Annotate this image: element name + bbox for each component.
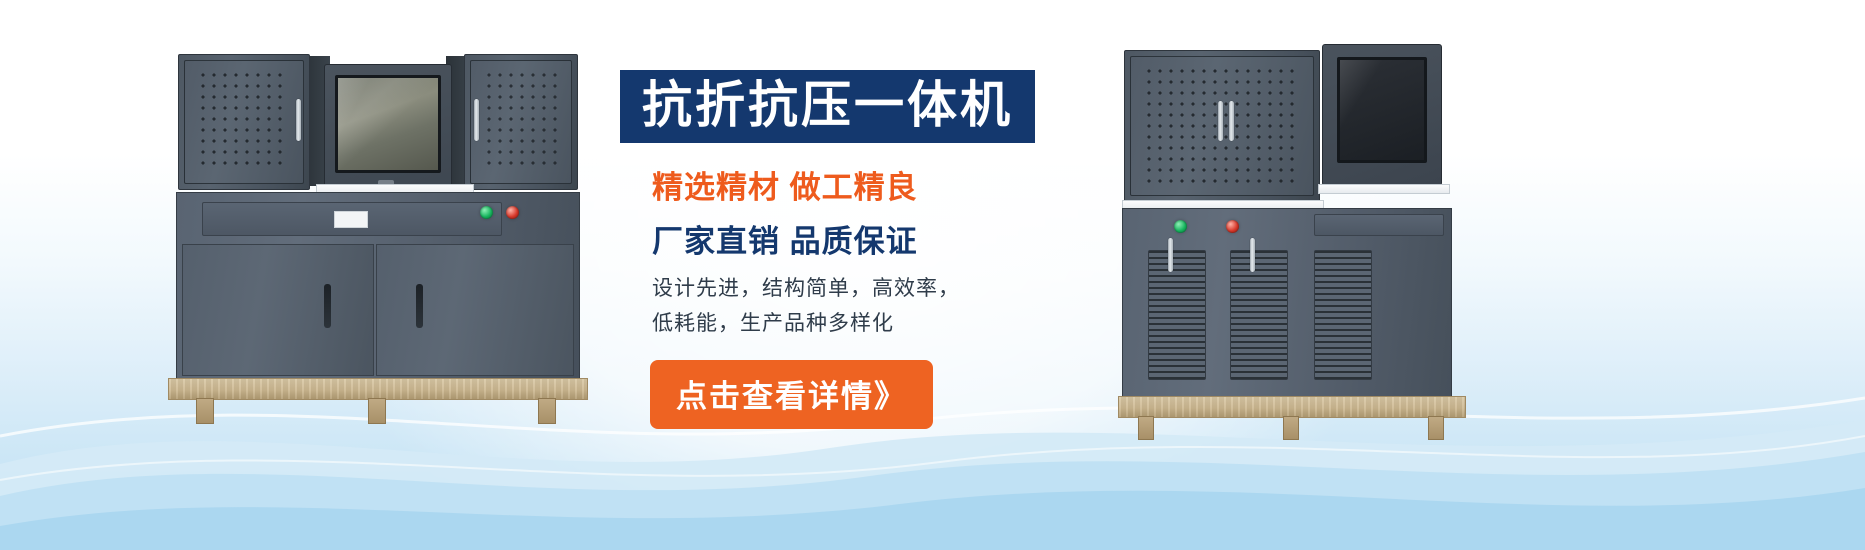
perforated-cabinet-door-left xyxy=(178,54,310,190)
indicator-light-red xyxy=(1226,220,1239,233)
perforated-cabinet-door-right xyxy=(464,54,578,190)
door-handle-icon-right xyxy=(1229,101,1234,141)
monitor-screen xyxy=(1337,57,1427,163)
indicator-light-red xyxy=(506,206,519,219)
control-monitor xyxy=(324,64,452,190)
monitor-enclosure xyxy=(1322,44,1442,186)
product-image-right xyxy=(1118,38,1478,428)
perforation-pattern xyxy=(1147,69,1299,183)
door-handle-icon xyxy=(1168,238,1173,272)
control-drawer xyxy=(1314,214,1444,236)
door-handle-icon xyxy=(1250,238,1255,272)
pallet-leg xyxy=(196,398,214,424)
wood-pallet xyxy=(168,378,588,400)
subtitle-secondary: 厂家直销 品质保证 xyxy=(652,216,1100,261)
door-handle-icon-left xyxy=(1218,101,1223,141)
monitor-screen xyxy=(335,75,441,173)
page-title: 抗折抗压一体机 xyxy=(642,79,1013,132)
louvered-panel-middle xyxy=(1230,250,1288,380)
door-handle-icon xyxy=(324,284,331,328)
door-handle-icon xyxy=(474,99,479,141)
louvered-panel-left xyxy=(1148,250,1206,380)
white-trim-strip-upper xyxy=(1318,184,1450,194)
product-image-left xyxy=(168,42,588,427)
title-band: 抗折抗压一体机 xyxy=(620,70,1035,143)
louvered-panel-right xyxy=(1314,250,1372,380)
wood-pallet xyxy=(1118,396,1466,418)
pallet-leg xyxy=(1138,416,1154,440)
pallet-leg xyxy=(538,398,556,424)
door-handle-icon xyxy=(416,284,423,328)
door-inner-edge xyxy=(184,60,304,184)
description-line-2: 低耗能，生产品种多样化 xyxy=(652,306,1100,341)
description-line-1: 设计先进，结构简单，高效率， xyxy=(652,271,1100,306)
indicator-light-green xyxy=(480,206,493,219)
drawer-label xyxy=(334,211,368,228)
indicator-light-green xyxy=(1174,220,1187,233)
banner-copy: 抗折抗压一体机 精选精材 做工精良 厂家直销 品质保证 设计先进，结构简单，高效… xyxy=(620,70,1100,429)
perforation-pattern xyxy=(201,73,289,171)
perforation-pattern xyxy=(487,73,557,171)
pallet-leg xyxy=(1283,416,1299,440)
lower-door-right xyxy=(376,244,574,376)
product-banner: 抗折抗压一体机 精选精材 做工精良 厂家直销 品质保证 设计先进，结构简单，高效… xyxy=(0,0,1865,550)
pallet-leg xyxy=(1428,416,1444,440)
door-inner-edge xyxy=(470,60,572,184)
control-drawer xyxy=(202,202,502,236)
lower-door-left xyxy=(182,244,374,376)
subtitle-primary: 精选精材 做工精良 xyxy=(652,162,1100,207)
pallet-leg xyxy=(368,398,386,424)
perforated-cabinet-double-door xyxy=(1124,50,1320,202)
door-handle-icon xyxy=(296,99,301,141)
view-details-button[interactable]: 点击查看详情》 xyxy=(650,360,933,429)
